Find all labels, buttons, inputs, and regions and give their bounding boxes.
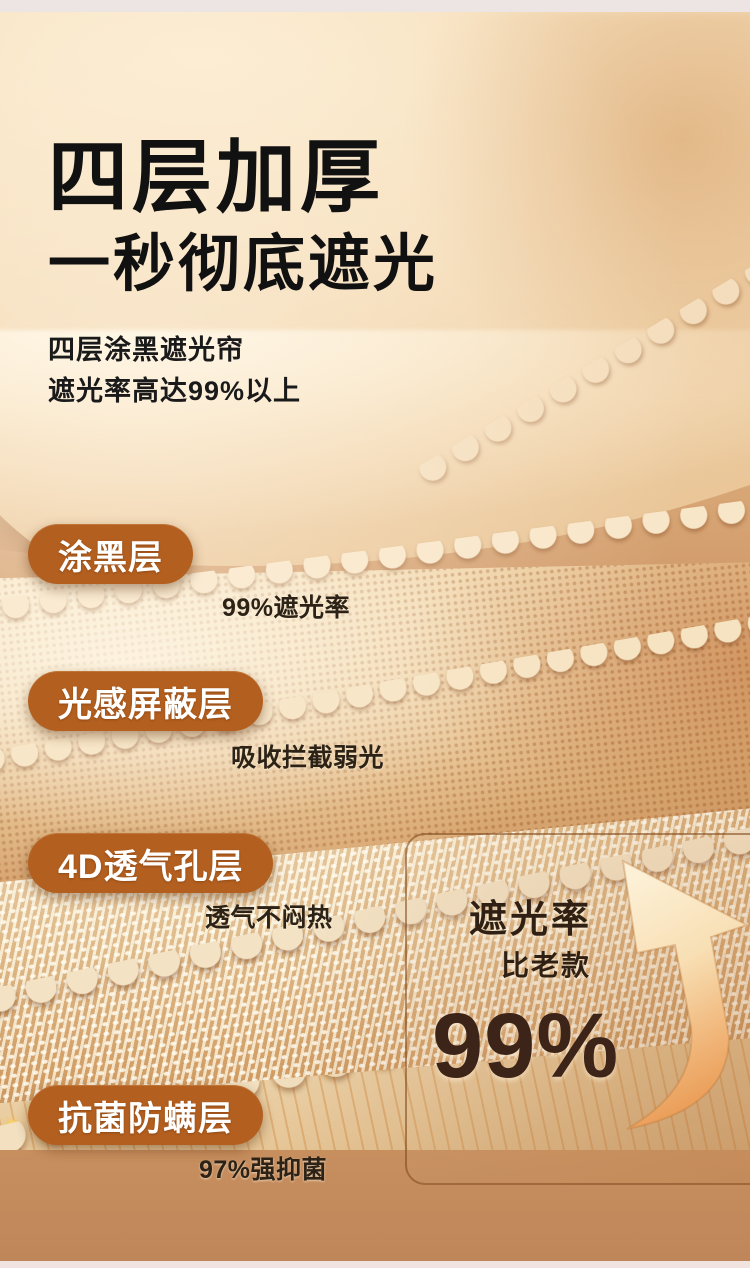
top-trim-strip [0,0,750,12]
callout-value: 99% [432,1000,619,1092]
headline-subtext: 四层涂黑遮光帘 遮光率高达99%以上 [48,330,750,412]
layer-badge-light-shield: 光感屏蔽层 [28,671,263,731]
bottom-trim-strip [0,1261,750,1268]
callout-subtitle: 比老款 [501,944,591,984]
layer-badge-light-shield-label: 光感屏蔽层 [58,677,233,726]
headline-subtext-line-2: 遮光率高达99%以上 [48,371,750,412]
layer-badge-breathable-label: 4D透气孔层 [58,839,243,888]
layer-note-light-shield: 吸收拦截弱光 [231,738,384,774]
layer-badge-breathable: 4D透气孔层 [28,833,273,893]
layer-badge-antibacterial-label: 抗菌防螨层 [58,1091,233,1140]
headline-primary: 四层加厚 [48,138,750,218]
callout-title: 遮光率 [469,888,592,943]
layer-note-breathable: 透气不闷热 [205,898,333,934]
headline-block: 四层加厚 一秒彻底遮光 四层涂黑遮光帘 遮光率高达99%以上 [0,0,750,412]
product-infographic: 四层加厚 一秒彻底遮光 四层涂黑遮光帘 遮光率高达99%以上 涂黑层 99%遮光… [0,0,750,1268]
layer-badge-coating-label: 涂黑层 [58,530,163,579]
headline-secondary: 一秒彻底遮光 [48,234,750,296]
headline-subtext-line-1: 四层涂黑遮光帘 [48,330,750,371]
layer-badge-coating: 涂黑层 [28,524,193,584]
layer-badge-antibacterial: 抗菌防螨层 [28,1085,263,1145]
layer-note-antibacterial: 97%强抑菌 [199,1150,327,1186]
layer-note-coating: 99%遮光率 [222,588,350,624]
